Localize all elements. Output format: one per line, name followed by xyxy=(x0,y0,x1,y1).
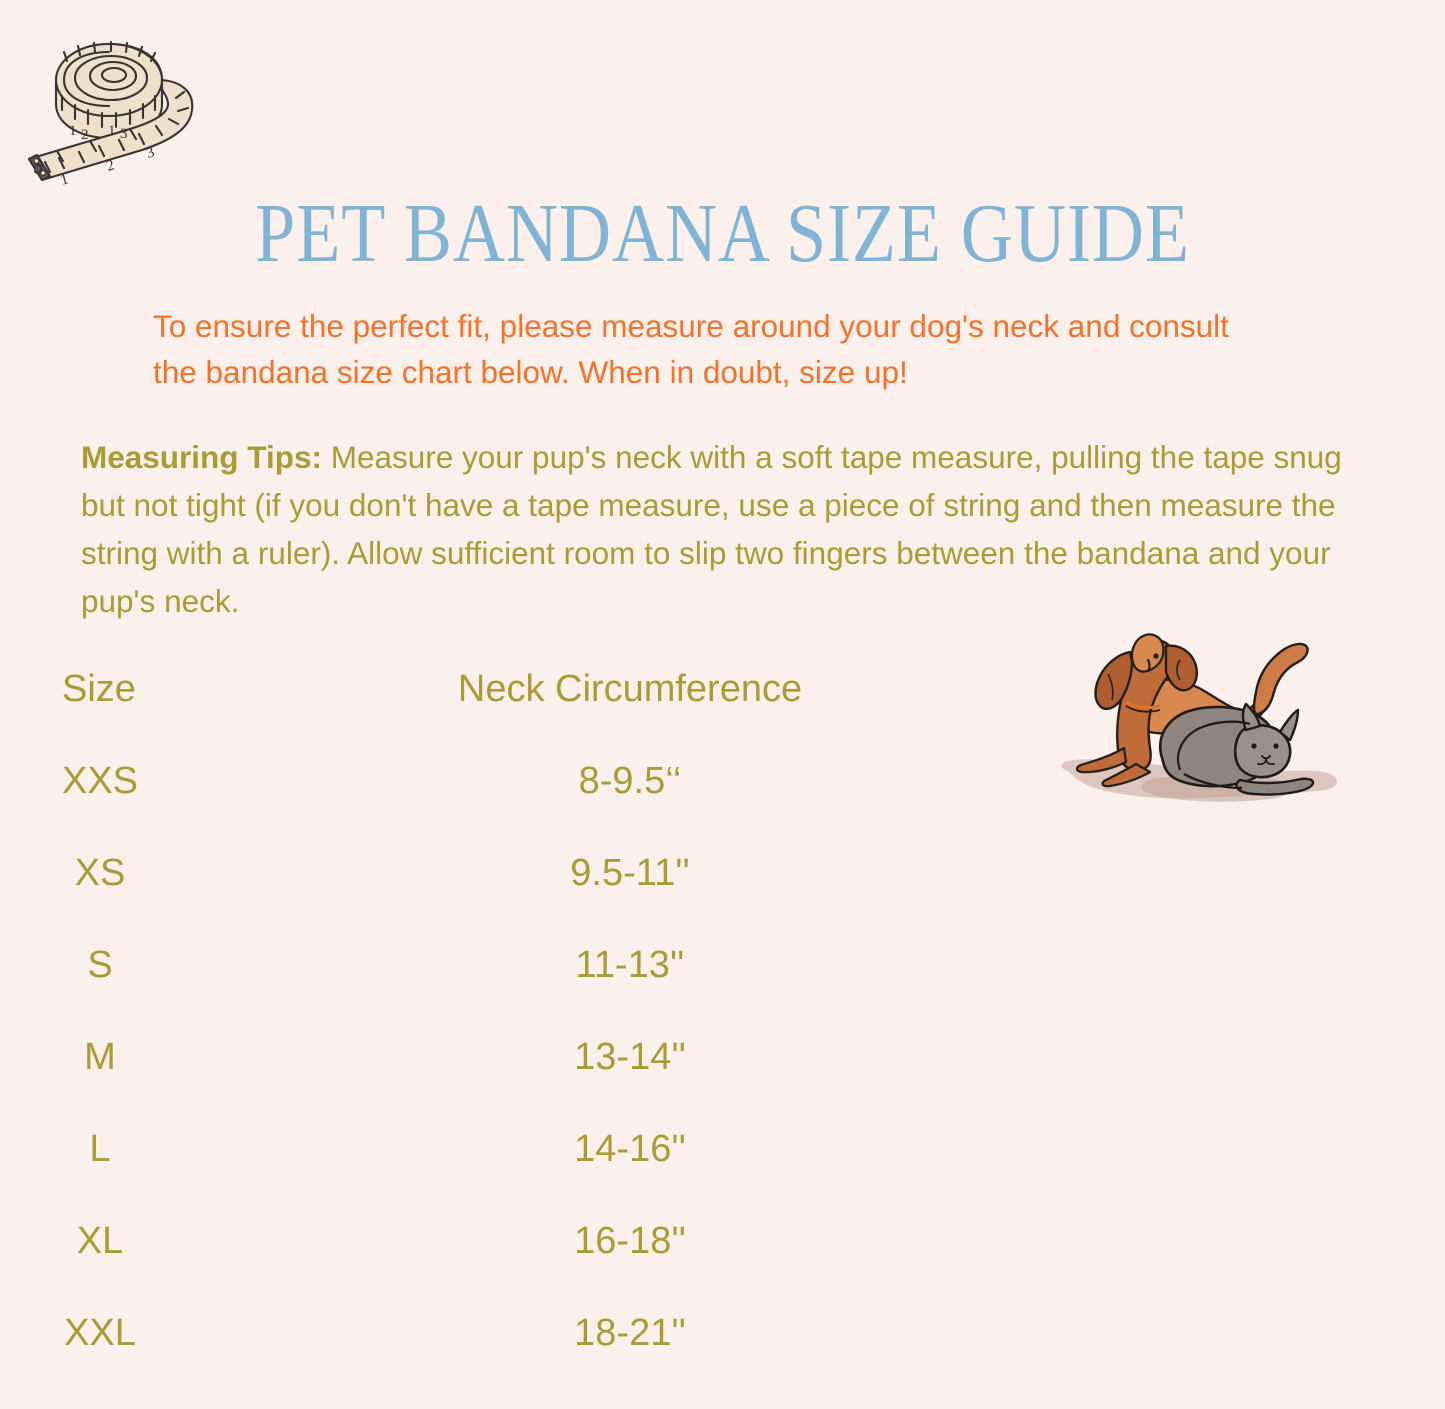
tape-measure-icon: 1 2 1 3 1 2 3 xyxy=(12,28,197,190)
svg-text:1: 1 xyxy=(69,123,77,139)
table-row: XL 16-18'' xyxy=(0,1220,1060,1312)
size-table: Size Neck Circumference XXS 8-9.5‘‘ XS 9… xyxy=(0,668,1060,1404)
svg-text:2: 2 xyxy=(105,157,117,174)
table-header-row: Size Neck Circumference xyxy=(0,668,1060,760)
svg-text:1: 1 xyxy=(59,171,71,188)
cell-size: L xyxy=(0,1128,200,1171)
cell-size: S xyxy=(0,944,200,987)
cell-neck: 9.5-11'' xyxy=(200,852,1060,895)
column-header-size: Size xyxy=(0,668,200,711)
cell-size: XXL xyxy=(0,1312,200,1355)
cell-neck: 18-21'' xyxy=(200,1312,1060,1355)
cell-size: XL xyxy=(0,1220,200,1263)
cell-neck: 13-14'' xyxy=(200,1036,1060,1079)
table-row: XXS 8-9.5‘‘ xyxy=(0,760,1060,852)
table-row: S 11-13'' xyxy=(0,944,1060,1036)
cell-neck: 11-13'' xyxy=(200,944,1060,987)
measuring-tips-label: Measuring Tips: xyxy=(81,439,322,475)
svg-text:3: 3 xyxy=(145,144,157,161)
cell-size: M xyxy=(0,1036,200,1079)
size-guide-page: 1 2 1 3 1 2 3 PET BANDANA SIZE GUIDE To … xyxy=(0,0,1445,1409)
svg-text:3: 3 xyxy=(120,126,128,142)
cell-size: XXS xyxy=(0,760,200,803)
cell-neck: 8-9.5‘‘ xyxy=(200,760,1060,803)
page-title: PET BANDANA SIZE GUIDE xyxy=(101,186,1344,282)
table-row: L 14-16'' xyxy=(0,1128,1060,1220)
cell-neck: 14-16'' xyxy=(200,1128,1060,1171)
svg-text:2: 2 xyxy=(81,127,89,143)
column-header-neck-circumference: Neck Circumference xyxy=(200,668,1060,711)
subtitle-text: To ensure the perfect fit, please measur… xyxy=(153,303,1263,395)
svg-text:1: 1 xyxy=(108,123,116,139)
cell-size: XS xyxy=(0,852,200,895)
table-row: XXL 18-21'' xyxy=(0,1312,1060,1404)
table-row: M 13-14'' xyxy=(0,1036,1060,1128)
table-row: XS 9.5-11'' xyxy=(0,852,1060,944)
measuring-tips-paragraph: Measuring Tips: Measure your pup's neck … xyxy=(81,433,1366,625)
dog-and-cat-illustration xyxy=(1040,608,1375,823)
cell-neck: 16-18'' xyxy=(200,1220,1060,1263)
